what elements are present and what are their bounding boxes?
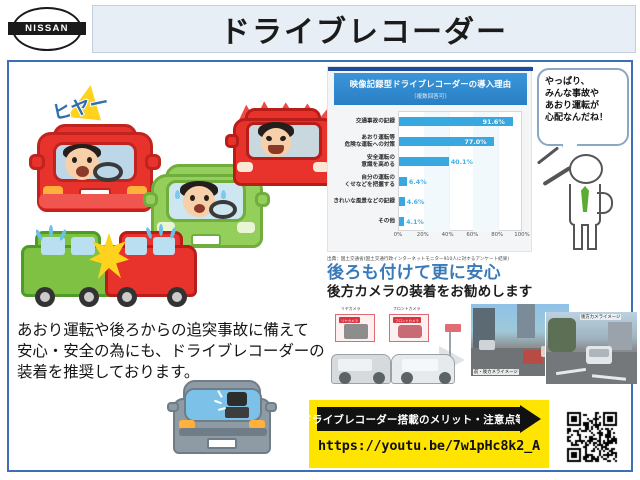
rear-end-collision-illustration [21, 227, 201, 313]
chart-bar-value: 91.6% [483, 118, 505, 126]
chart-bar-value: 40.1% [451, 158, 473, 166]
chart-bar-row: 91.6% [399, 117, 523, 126]
chart-x-axis: 0%20%40%60%80%100% [398, 232, 522, 242]
chart-category-label: 安全運転の意識を高める [329, 155, 395, 169]
chart-bar [399, 217, 404, 226]
shout-graphic: ヒヤー [49, 76, 149, 125]
red-scared-car-illustration [31, 124, 159, 216]
illustration-group: ヒヤー [9, 62, 329, 312]
qr-code[interactable] [557, 402, 627, 468]
content-panel: ヒヤー [7, 60, 633, 472]
front-camera-label: フロントカメラ [393, 306, 420, 312]
camera-placement-diagram: リヤカメラ リヤカメラ フロントカメラ フロントカメラ [327, 306, 472, 388]
chart-category-label: 自分の運転のくせなどを把握する [329, 175, 395, 189]
chart-title-box: 映像記録型ドライブレコーダーの導入理由 （複数回答可） [334, 73, 527, 105]
survey-chart-card: 映像記録型ドライブレコーダーの導入理由 （複数回答可） 交通事故の記録91.6%… [327, 66, 532, 252]
chart-bar [399, 197, 405, 206]
chart-x-tick: 40% [442, 232, 454, 238]
chart-bar [399, 177, 407, 186]
qr-code-canvas[interactable] [557, 402, 627, 468]
chart-bar-value: 4.6% [407, 198, 425, 206]
chart-accent-line [328, 67, 533, 71]
chart-bar-value: 4.1% [406, 218, 424, 226]
chart-bar [399, 157, 449, 166]
statement-line-1: あおり運転や後ろからの追突事故に備えて [17, 320, 337, 341]
chart-category-label: その他 [329, 218, 395, 225]
photo-caption-front-rear: 前・後カメライメージ [473, 369, 519, 375]
chart-bar-row: 4.1% [399, 217, 523, 226]
chart-band [424, 112, 449, 232]
rear-camera-panel: リヤカメラ [335, 314, 375, 342]
statement-line-2: 安心・安全の為にも、ドライブレコーダーの [17, 341, 337, 362]
speech-line-2: みんな事故や [545, 89, 621, 101]
rear-camera-badge: リヤカメラ [339, 317, 360, 323]
speech-line-1: やっぱり、 [545, 77, 621, 89]
rear-camera-photo: 後方カメライメージ [545, 312, 637, 384]
logo-text: NISSAN [25, 23, 69, 34]
chart-category-label: きれいな風景などの記録 [329, 198, 395, 205]
speech-line-4: 心配なんだね！ [545, 113, 621, 125]
page-title: ドライブレコーダー [220, 7, 508, 51]
slide-root: NISSAN ドライブレコーダー ヒヤー [0, 0, 640, 480]
rear-camera-label: リヤカメラ [341, 306, 360, 312]
chart-plot-area: 交通事故の記録91.6%あおり運転等危険な運転への対策77.0%安全運転の意識を… [398, 111, 522, 231]
speech-line-3: あおり運転が [545, 101, 621, 113]
page-title-bar: ドライブレコーダー [92, 5, 636, 53]
chart-x-tick: 0% [394, 232, 403, 238]
page-header: NISSAN ドライブレコーダー [0, 0, 640, 58]
banner-arrow: ドライブレコーダー搭載のメリット・注意点等は [317, 407, 541, 431]
front-camera-badge: フロントカメラ [393, 317, 421, 323]
banner-arrow-text: ドライブレコーダー搭載のメリット・注意点等は [301, 412, 536, 427]
chart-subtitle: （複数回答可） [411, 92, 450, 100]
chart-band [473, 112, 498, 232]
front-camera-panel: フロントカメラ [389, 314, 429, 342]
red-angry-car-illustration [229, 106, 339, 194]
dashcam-icon [227, 392, 247, 406]
chart-bar-row: 40.1% [399, 157, 523, 166]
chart-bar-row: 6.4% [399, 177, 523, 186]
video-url-link[interactable]: https://youtu.be/7w1pHc8k2_A [309, 438, 549, 454]
pointer-stick-icon [537, 146, 559, 164]
chart-bar-row: 77.0% [399, 137, 523, 146]
chart-gridline [449, 112, 450, 232]
chart-x-tick: 80% [491, 232, 503, 238]
section-headline-dark: 後方カメラの装着をお勧めします [327, 280, 533, 300]
businessman-illustration [539, 152, 631, 252]
chart-bar-value: 77.0% [464, 138, 486, 146]
chart-category-label: あおり運転等危険な運転への対策 [329, 135, 395, 149]
speech-bubble-text: やっぱり、 みんな事故や あおり運転が 心配なんだね！ [539, 70, 627, 132]
banner-arrow-tip [520, 405, 541, 433]
chart-title: 映像記録型ドライブレコーダーの導入理由 [350, 78, 511, 90]
logo-bar: NISSAN [8, 22, 86, 35]
chart-bar-value: 6.4% [409, 178, 427, 186]
main-statement: あおり運転や後ろからの追突事故に備えて 安心・安全の為にも、ドライブレコーダーの… [17, 320, 337, 383]
banner-arrow-body: ドライブレコーダー搭載のメリット・注意点等は [317, 407, 521, 431]
speech-bubble: やっぱり、 みんな事故や あおり運転が 心配なんだね！ [537, 68, 629, 146]
chart-bar-row: 4.6% [399, 197, 523, 206]
chart-x-tick: 100% [514, 232, 529, 238]
chart-gridline [498, 112, 499, 232]
chart-x-tick: 20% [417, 232, 429, 238]
chart-x-tick: 60% [466, 232, 478, 238]
chart-category-label: 交通事故の記録 [329, 118, 395, 125]
chart-gridline [523, 112, 524, 232]
nissan-logo: NISSAN [8, 6, 86, 52]
video-link-banner[interactable]: ドライブレコーダー搭載のメリット・注意点等は https://youtu.be/… [309, 400, 549, 468]
gray-dashcam-car-illustration [167, 380, 277, 458]
photo-caption-rear: 後方カメライメージ [580, 314, 621, 320]
shout-text: ヒヤー [50, 87, 111, 125]
